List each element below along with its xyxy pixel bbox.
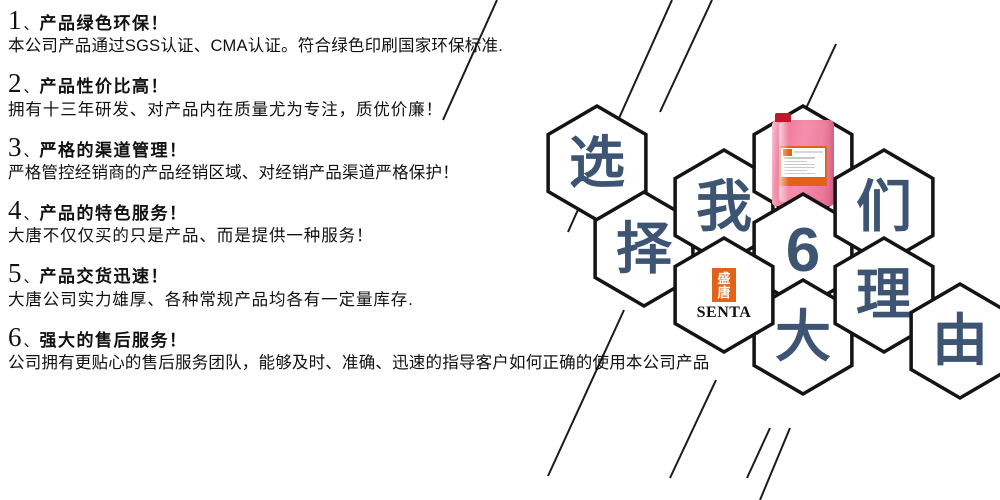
poster-canvas: 1 、 产品绿色环保！ 本公司产品通过SGS认证、CMA认证。符合绿色印刷国家环… xyxy=(0,0,1000,500)
brand-logo-char-top: 盛 xyxy=(717,272,730,285)
product-label-text-line xyxy=(784,157,815,158)
hex-cell-logo: 盛唐SENTA xyxy=(672,236,776,354)
brand-wordmark: SENTA xyxy=(697,304,752,322)
hex-cell-you-label: 由 xyxy=(908,282,1000,400)
product-label-text-line xyxy=(784,161,807,162)
product-label-text-line xyxy=(784,167,815,168)
product-label-text-line xyxy=(784,164,815,165)
brand-logo-mark: 盛唐 xyxy=(712,268,736,302)
hex-cell-you: 由 xyxy=(908,282,1000,400)
product-label-footer xyxy=(781,177,825,184)
brand-logo: 盛唐SENTA xyxy=(672,236,776,354)
brand-logo-char-bottom: 唐 xyxy=(717,286,730,299)
product-label xyxy=(779,146,827,186)
product-label-header xyxy=(781,148,825,156)
product-label-body xyxy=(781,156,825,177)
product-label-text-line xyxy=(784,170,807,171)
honeycomb-graphic: 选择我6大们理由盛唐SENTA xyxy=(0,0,1000,500)
product-label-text-line xyxy=(784,173,815,174)
product-label-chip xyxy=(783,149,792,156)
product-label-rule xyxy=(794,151,823,153)
